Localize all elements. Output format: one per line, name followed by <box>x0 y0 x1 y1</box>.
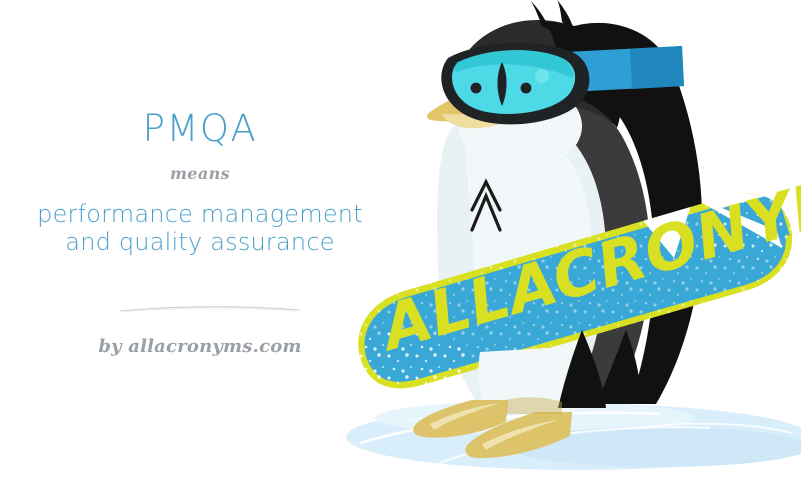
divider <box>118 300 302 310</box>
penguin-snowboarder-illustration: ALLACRONYMS <box>330 0 801 477</box>
acronym-definition: performance management and quality assur… <box>30 200 370 256</box>
acronym-definition-card: PMQA means performance management and qu… <box>0 0 801 477</box>
divider-curve-icon <box>118 303 302 313</box>
